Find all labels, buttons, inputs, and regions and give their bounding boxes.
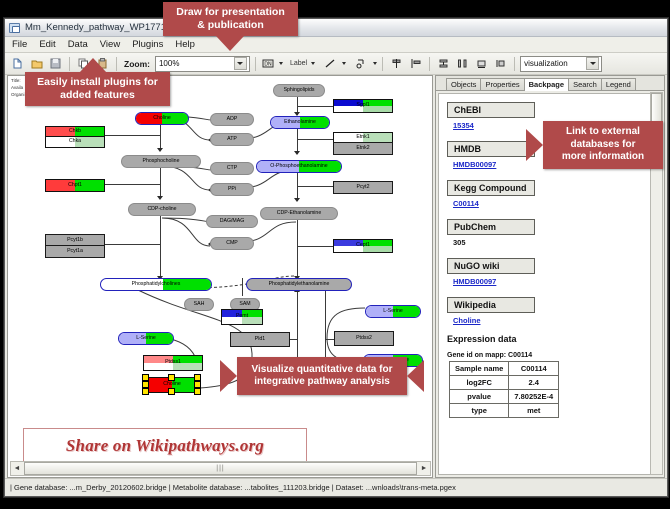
- metabolite-choline-top[interactable]: Choline: [135, 112, 189, 125]
- title-line-2: Availa: [11, 85, 25, 92]
- callout-line-1: Visualize quantitative data for: [252, 364, 393, 377]
- node-label: Phosphocholine: [143, 159, 180, 164]
- new-file-icon[interactable]: [9, 55, 26, 72]
- callout-line-1: Draw for presentation: [176, 6, 285, 19]
- callout-line-2: added features: [37, 89, 158, 102]
- expr-val-type: met: [509, 404, 559, 418]
- metabolite-phosphatidylcholines[interactable]: Phosphatidylcholines: [100, 278, 212, 291]
- chevron-down-icon[interactable]: [586, 57, 599, 70]
- table-row: pvalue 7.80252E-4: [450, 390, 559, 404]
- node-label: L-Serine: [136, 336, 156, 341]
- node-label: CDP-Ethanolamine: [277, 211, 321, 216]
- node-label: Pcyt1a: [67, 249, 83, 254]
- visualization-value: visualization: [524, 59, 568, 68]
- gene-etnk2[interactable]: Etnk2: [333, 142, 393, 155]
- pathway-title-block: Title: Availa Organi: [11, 78, 25, 98]
- table-row: log2FC 2.4: [450, 376, 559, 390]
- node-label: Pld1: [255, 337, 265, 342]
- metabolite-cdp-choline[interactable]: CDP-choline: [128, 203, 196, 216]
- node-label: CDP-choline: [147, 207, 176, 212]
- node-label: Chka: [69, 139, 81, 144]
- tab-properties[interactable]: Properties: [480, 78, 524, 90]
- node-label: O-Phosphoethanolamine: [270, 164, 327, 169]
- menu-file[interactable]: File: [10, 39, 29, 50]
- callout-arrow-right-icon: [220, 360, 237, 392]
- status-bar-text: | Gene database: ...m_Derby_20120602.bri…: [10, 483, 456, 492]
- edge-etnk-catalysis: [297, 139, 333, 140]
- edge-pld1-to-pe: [297, 290, 298, 364]
- arrowhead-down: [157, 196, 163, 200]
- group-icon[interactable]: [473, 55, 490, 72]
- node-label: Cept1: [356, 243, 370, 248]
- gene-pld1[interactable]: Pld1: [230, 332, 290, 347]
- gene-chpt1[interactable]: Chpt1: [45, 179, 105, 192]
- table-row: type met: [450, 404, 559, 418]
- selection-handle[interactable]: [194, 374, 201, 381]
- stack-icon[interactable]: [435, 55, 452, 72]
- selection-handle[interactable]: [142, 381, 149, 388]
- callout-external-database-links: Link to external databases for more info…: [543, 121, 663, 169]
- menu-view[interactable]: View: [98, 39, 122, 50]
- canvas-hscrollbar[interactable]: ◄ ||| ►: [10, 461, 431, 476]
- callout-line-3: more information: [562, 151, 644, 164]
- order-icon[interactable]: [492, 55, 509, 72]
- node-label: Ptdss2: [356, 336, 372, 341]
- zoom-value: 100%: [159, 59, 179, 68]
- node-label: Ethanolamine: [284, 120, 316, 125]
- expr-key-pvalue: pvalue: [450, 390, 509, 404]
- node-label: Choline: [163, 382, 181, 387]
- title-line-3: Organi: [11, 92, 25, 99]
- align-left-icon[interactable]: [407, 55, 424, 72]
- distribute-icon[interactable]: [454, 55, 471, 72]
- node-label: Etnk2: [356, 146, 369, 151]
- metabolite-ethanolamine-top[interactable]: Ethanolamine: [270, 116, 330, 129]
- visualization-combobox[interactable]: visualization: [520, 56, 602, 72]
- toolbar-separator: [69, 57, 70, 71]
- status-bar: | Gene database: ...m_Derby_20120602.bri…: [5, 478, 667, 496]
- gene-pcyt1a[interactable]: Pcyt1a: [45, 245, 105, 258]
- side-panel-tabs: Objects Properties Backpage Search Legen…: [436, 76, 664, 91]
- node-label: Chpt1: [68, 183, 82, 188]
- db-header-wikipedia: Wikipedia: [447, 297, 535, 313]
- node-label: Choline: [153, 116, 171, 121]
- metabolite-phosphatidylethanolamine[interactable]: Phosphatidylethanolamine: [246, 278, 352, 291]
- gene-pcyt2[interactable]: Pcyt2: [333, 181, 393, 194]
- expr-key-type: type: [450, 404, 509, 418]
- db-link-nugo[interactable]: HMDB00097: [453, 277, 661, 286]
- node-label: SAH: [194, 302, 205, 307]
- gene-ptdss1[interactable]: Ptdss1: [143, 355, 203, 371]
- node-label: ADP: [227, 117, 238, 122]
- db-header-nugo: NuGO wiki: [447, 258, 535, 274]
- tab-search[interactable]: Search: [568, 78, 602, 90]
- selection-handle[interactable]: [142, 388, 149, 395]
- gene-sgpl1[interactable]: Sgpl1: [333, 99, 393, 113]
- db-value-pubchem: 305: [453, 238, 661, 247]
- node-label: ATP: [227, 137, 237, 142]
- menu-data[interactable]: Data: [66, 39, 90, 50]
- label-dropdown-icon[interactable]: [311, 62, 315, 65]
- node-label: Sgpl1: [356, 103, 369, 108]
- hscroll-thumb[interactable]: |||: [24, 462, 417, 475]
- arrowhead-down: [294, 198, 300, 202]
- table-row: Sample name C00114: [450, 362, 559, 376]
- datanode-dropdown-icon[interactable]: [279, 62, 283, 65]
- metabolite-ppi[interactable]: PPi: [210, 183, 254, 196]
- gene-chka[interactable]: Chka: [45, 136, 105, 148]
- zoom-label: Zoom:: [124, 59, 150, 69]
- edge-pcyt2-catalysis: [297, 186, 333, 187]
- menu-help[interactable]: Help: [173, 39, 197, 50]
- selection-handle[interactable]: [168, 388, 175, 395]
- callout-arrow-up-icon: [79, 58, 107, 73]
- callout-visualize-quantitative-data: Visualize quantitative data for integrat…: [237, 357, 407, 395]
- node-label: L-Serine: [383, 309, 403, 314]
- tab-backpage[interactable]: Backpage: [524, 78, 569, 91]
- db-header-chebi: ChEBI: [447, 102, 535, 118]
- node-label: Ptdss1: [165, 360, 181, 365]
- line-icon[interactable]: [322, 55, 339, 72]
- pathway-canvas[interactable]: Title: Availa Organi: [7, 75, 433, 478]
- metabolite-l-serine-left[interactable]: L-Serine: [118, 332, 174, 345]
- screenshot-root: Mm_Kennedy_pathway_WP1771_45176.gpml Fil…: [0, 0, 670, 509]
- db-header-hmdb: HMDB: [447, 141, 535, 157]
- node-label: Pemt: [236, 314, 248, 319]
- align-icon[interactable]: [388, 55, 405, 72]
- open-folder-icon[interactable]: [28, 55, 45, 72]
- pathway-drawing[interactable]: Title: Availa Organi: [8, 76, 430, 459]
- metabolite-atp[interactable]: ATP: [210, 133, 254, 146]
- metabolite-phosphocholine[interactable]: Phosphocholine: [121, 155, 201, 168]
- expr-key-log2fc: log2FC: [450, 376, 509, 390]
- save-icon[interactable]: [47, 55, 64, 72]
- selection-handle[interactable]: [194, 381, 201, 388]
- node-label: PPi: [228, 187, 236, 192]
- toolbar-separator: [429, 57, 430, 71]
- selection-handle[interactable]: [194, 388, 201, 395]
- node-label: Etnk1: [356, 135, 369, 140]
- node-label: DAG/MAG: [220, 219, 245, 224]
- metabolite-cdp-ethanolamine[interactable]: CDP-Ethanolamine: [260, 207, 338, 220]
- metabolite-sah[interactable]: SAH: [184, 298, 214, 311]
- callout-arrow-left-icon: [407, 360, 424, 392]
- scroll-right-icon[interactable]: ►: [418, 463, 430, 474]
- node-label: Chkb: [69, 129, 81, 134]
- edge-sgpl1-catalysis: [297, 106, 333, 107]
- tab-legend[interactable]: Legend: [601, 78, 636, 90]
- menu-bar: File Edit Data View Plugins Help: [5, 37, 667, 53]
- arrowhead-down: [157, 148, 163, 152]
- node-label: Phosphatidylcholines: [132, 282, 181, 287]
- gene-id-on-mapp: Gene id on mapp: C00114: [447, 352, 661, 359]
- tab-objects[interactable]: Objects: [446, 78, 481, 90]
- metabolite-cmp[interactable]: CMP: [210, 237, 254, 250]
- expr-val-sample-name: C00114: [509, 362, 559, 376]
- share-banner: Share on Wikipathways.org: [23, 428, 307, 463]
- callout-line-2: & publication: [176, 19, 285, 32]
- edge-cept1-catalysis: [297, 246, 333, 247]
- label-button[interactable]: Label: [290, 60, 307, 67]
- arrowhead-down: [294, 151, 300, 155]
- callout-line-2: integrative pathway analysis: [252, 376, 393, 389]
- menu-edit[interactable]: Edit: [37, 39, 57, 50]
- toolbar-separator: [514, 57, 515, 71]
- callout-line-1: Easily install plugins for: [37, 76, 158, 89]
- expression-data-heading: Expression data: [447, 334, 661, 344]
- gene-ptdss2[interactable]: Ptdss2: [334, 331, 394, 346]
- menu-plugins[interactable]: Plugins: [130, 39, 165, 50]
- db-header-kegg: Kegg Compound: [447, 180, 535, 196]
- callout-line-2: databases for: [562, 139, 644, 152]
- selection-handle[interactable]: [142, 374, 149, 381]
- node-label: SAM: [239, 302, 250, 307]
- node-label: CTP: [227, 166, 237, 171]
- expr-val-log2fc: 2.4: [509, 376, 559, 390]
- metabolite-sphingolipids[interactable]: Sphingolipids: [273, 84, 325, 97]
- metabolite-l-serine-right[interactable]: L-Serine: [365, 305, 421, 318]
- expr-key-sample-name: Sample name: [450, 362, 509, 376]
- expr-val-pvalue: 7.80252E-4: [509, 390, 559, 404]
- node-label: CMP: [226, 241, 238, 246]
- callout-install-plugins: Easily install plugins for added feature…: [25, 72, 170, 106]
- chevron-down-icon[interactable]: [234, 57, 247, 70]
- zoom-combobox[interactable]: 100%: [155, 56, 250, 72]
- scroll-left-icon[interactable]: ◄: [11, 463, 23, 474]
- gene-pemt[interactable]: Pemt: [221, 309, 263, 325]
- expression-table: Sample name C00114 log2FC 2.4 pvalue 7.8…: [449, 361, 559, 418]
- metabolite-o-phosphoethanolamine[interactable]: O-Phosphoethanolamine: [256, 160, 342, 173]
- share-banner-text: Share on Wikipathways.org: [66, 436, 264, 456]
- db-link-kegg[interactable]: C00114: [453, 199, 661, 208]
- gene-cept1[interactable]: Cept1: [333, 239, 393, 253]
- callout-arrow-right-icon: [526, 129, 543, 161]
- callout-draw-for-publication: Draw for presentation & publication: [163, 2, 298, 36]
- datanode-icon[interactable]: DN: [261, 55, 276, 72]
- metabolite-adp[interactable]: ADP: [210, 113, 254, 126]
- anchor-dropdown-icon[interactable]: [373, 62, 377, 65]
- title-bar: Mm_Kennedy_pathway_WP1771_45176.gpml: [5, 19, 667, 37]
- node-label: Pcyt2: [357, 185, 370, 190]
- selection-handle[interactable]: [168, 374, 175, 381]
- anchor-icon[interactable]: [353, 55, 370, 72]
- metabolite-ctp[interactable]: CTP: [210, 162, 254, 175]
- svg-text:DN: DN: [265, 62, 273, 68]
- node-label: Pcyt1b: [67, 238, 83, 243]
- db-link-wikipedia[interactable]: Choline: [453, 316, 661, 325]
- node-label: Phosphatidylethanolamine: [269, 282, 330, 287]
- metabolite-dag-mag[interactable]: DAG/MAG: [206, 215, 258, 228]
- callout-arrow-down-icon: [216, 36, 244, 51]
- node-label: Sphingolipids: [284, 88, 315, 93]
- title-line-1: Title:: [11, 78, 25, 85]
- pathvisio-icon: [9, 22, 20, 33]
- toolbar-separator: [382, 57, 383, 71]
- toolbar-separator: [116, 57, 117, 71]
- callout-line-1: Link to external: [562, 126, 644, 139]
- line-dropdown-icon[interactable]: [342, 62, 346, 65]
- db-header-pubchem: PubChem: [447, 219, 535, 235]
- toolbar-separator: [255, 57, 256, 71]
